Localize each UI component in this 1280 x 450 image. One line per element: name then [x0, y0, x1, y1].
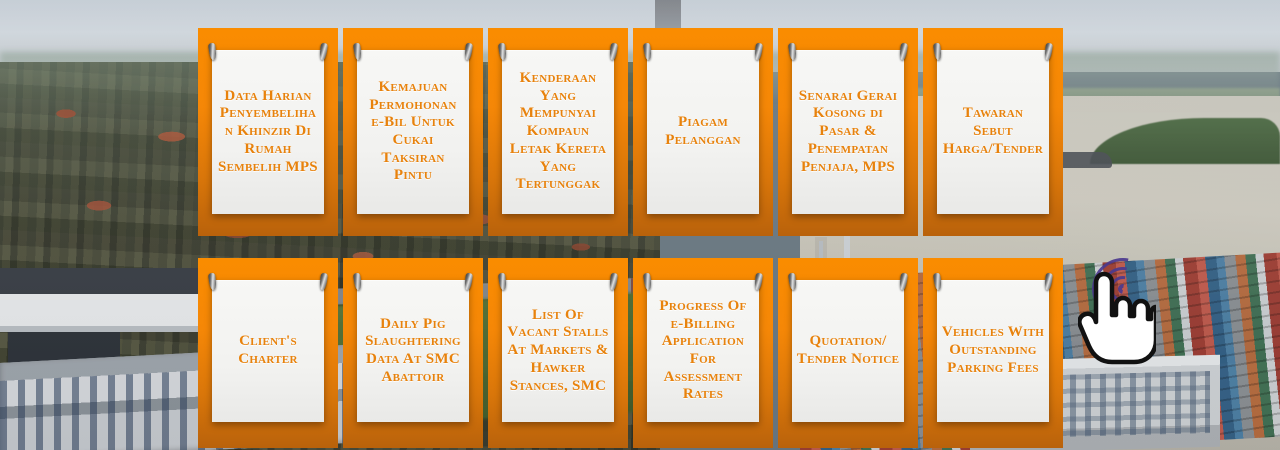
clip-pin-icon	[933, 273, 942, 291]
service-links-grid: Data Harian Penyembelihan Khinzir Di Rum…	[198, 28, 1063, 448]
card-label: Data Harian Penyembelihan Khinzir Di Rum…	[216, 88, 320, 176]
card-kenderaan-kompaun-letak-kereta[interactable]: Kenderaan Yang Mempunyai Kompaun Letak K…	[488, 28, 628, 236]
card-label: Daily Pig Slaughtering Data At SMC Abatt…	[361, 316, 465, 387]
clip-pin-icon	[208, 43, 217, 61]
clip-pin-icon	[788, 43, 797, 61]
clip-pin-icon	[609, 43, 618, 61]
paper-sheet-icon[interactable]: Kenderaan Yang Mempunyai Kompaun Letak K…	[502, 50, 614, 214]
card-quotation-tender-notice[interactable]: Quotation/ Tender Notice	[778, 258, 918, 448]
paper-sheet-icon[interactable]: Quotation/ Tender Notice	[792, 280, 904, 422]
clip-pin-icon	[609, 273, 618, 291]
paper-sheet-icon[interactable]: Tawaran Sebut Harga/Tender	[937, 50, 1049, 214]
clip-pin-icon	[933, 43, 942, 61]
card-kemajuan-permohonan-ebil[interactable]: Kemajuan Permohonan e-Bil Untuk Cukai Ta…	[343, 28, 483, 236]
clip-pin-icon	[1044, 273, 1053, 291]
card-list-of-vacant-stalls[interactable]: List Of Vacant Stalls At Markets & Hawke…	[488, 258, 628, 448]
card-label: Kemajuan Permohonan e-Bil Untuk Cukai Ta…	[361, 79, 465, 185]
card-label: Piagam Pelanggan	[651, 114, 755, 149]
clip-pin-icon	[498, 273, 507, 291]
paper-sheet-icon[interactable]: Client's Charter	[212, 280, 324, 422]
clip-pin-icon	[464, 273, 473, 291]
card-label: Client's Charter	[216, 333, 320, 368]
clip-pin-icon	[754, 273, 763, 291]
clip-pin-icon	[899, 273, 908, 291]
card-label: Tawaran Sebut Harga/Tender	[941, 105, 1045, 158]
card-progress-ebilling-application[interactable]: Progress Of e-Billing Application For As…	[633, 258, 773, 448]
paper-sheet-icon[interactable]: Daily Pig Slaughtering Data At SMC Abatt…	[357, 280, 469, 422]
clip-pin-icon	[643, 273, 652, 291]
clip-pin-icon	[208, 273, 217, 291]
clip-pin-icon	[754, 43, 763, 61]
clip-pin-icon	[319, 273, 328, 291]
card-label: Kenderaan Yang Mempunyai Kompaun Letak K…	[506, 70, 610, 194]
card-label: List Of Vacant Stalls At Markets & Hawke…	[506, 307, 610, 395]
clip-pin-icon	[319, 43, 328, 61]
paper-sheet-icon[interactable]: Piagam Pelanggan	[647, 50, 759, 214]
card-vehicles-outstanding-parking-fees[interactable]: Vehicles With Outstanding Parking Fees	[923, 258, 1063, 448]
clip-pin-icon	[788, 273, 797, 291]
card-label: Quotation/ Tender Notice	[796, 333, 900, 368]
clip-pin-icon	[353, 43, 362, 61]
card-label: Senarai Gerai Kosong di Pasar & Penempat…	[796, 88, 900, 176]
card-data-harian-penyembelihan[interactable]: Data Harian Penyembelihan Khinzir Di Rum…	[198, 28, 338, 236]
paper-sheet-icon[interactable]: Data Harian Penyembelihan Khinzir Di Rum…	[212, 50, 324, 214]
card-label: Vehicles With Outstanding Parking Fees	[941, 324, 1045, 377]
clip-pin-icon	[353, 273, 362, 291]
clip-pin-icon	[899, 43, 908, 61]
paper-sheet-icon[interactable]: Kemajuan Permohonan e-Bil Untuk Cukai Ta…	[357, 50, 469, 214]
card-piagam-pelanggan[interactable]: Piagam Pelanggan	[633, 28, 773, 236]
card-senarai-gerai-kosong[interactable]: Senarai Gerai Kosong di Pasar & Penempat…	[778, 28, 918, 236]
paper-sheet-icon[interactable]: Progress Of e-Billing Application For As…	[647, 280, 759, 422]
card-clients-charter[interactable]: Client's Charter	[198, 258, 338, 448]
paper-sheet-icon[interactable]: Vehicles With Outstanding Parking Fees	[937, 280, 1049, 422]
clip-pin-icon	[1044, 43, 1053, 61]
paper-sheet-icon[interactable]: List Of Vacant Stalls At Markets & Hawke…	[502, 280, 614, 422]
clip-pin-icon	[643, 43, 652, 61]
card-tawaran-sebut-harga-tender[interactable]: Tawaran Sebut Harga/Tender	[923, 28, 1063, 236]
paper-sheet-icon[interactable]: Senarai Gerai Kosong di Pasar & Penempat…	[792, 50, 904, 214]
card-daily-pig-slaughtering-data[interactable]: Daily Pig Slaughtering Data At SMC Abatt…	[343, 258, 483, 448]
clip-pin-icon	[464, 43, 473, 61]
clip-pin-icon	[498, 43, 507, 61]
card-label: Progress Of e-Billing Application For As…	[651, 298, 755, 404]
